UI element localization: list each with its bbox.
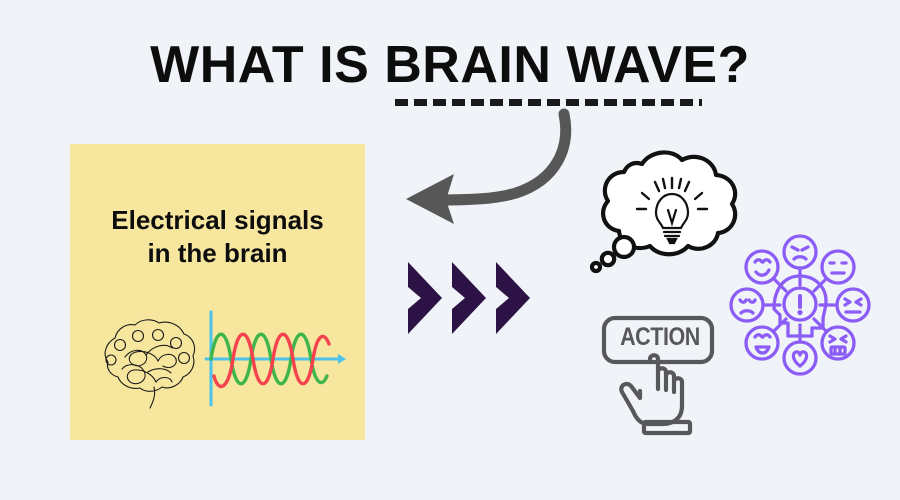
face-annoyed — [837, 289, 869, 321]
brain-line-drawing-icon — [98, 310, 203, 410]
face-confounded — [822, 327, 854, 359]
triple-chevron-right-icon — [408, 262, 538, 334]
face-angry — [784, 236, 816, 268]
face-heart — [784, 342, 816, 374]
thought-bubble-lightbulb-icon — [580, 140, 750, 275]
page-title: WHAT IS BRAIN WAVE? — [0, 38, 900, 93]
slide-canvas: WHAT IS BRAIN WAVE? Electrical signals i… — [0, 0, 900, 500]
title-dashed-underline — [395, 99, 702, 106]
axis-arrow-head — [338, 354, 346, 364]
face-sad — [731, 289, 763, 321]
card-heading: Electrical signals in the brain — [70, 204, 365, 269]
electrical-signals-card: Electrical signals in the brain — [70, 144, 365, 440]
pointing-hand-icon — [621, 355, 682, 424]
curved-arrow-left-icon — [396, 108, 596, 228]
emotion-wheel-icon — [730, 235, 870, 375]
action-button-press-icon[interactable] — [596, 306, 722, 436]
face-neutral — [822, 251, 854, 283]
face-grinning — [746, 327, 778, 359]
face-smirking — [746, 251, 778, 283]
card-heading-line2: in the brain — [70, 237, 365, 270]
card-heading-line1: Electrical signals — [111, 205, 323, 235]
wave-red — [214, 334, 329, 386]
brainwave-chart — [198, 306, 348, 411]
hand-base — [644, 422, 690, 433]
